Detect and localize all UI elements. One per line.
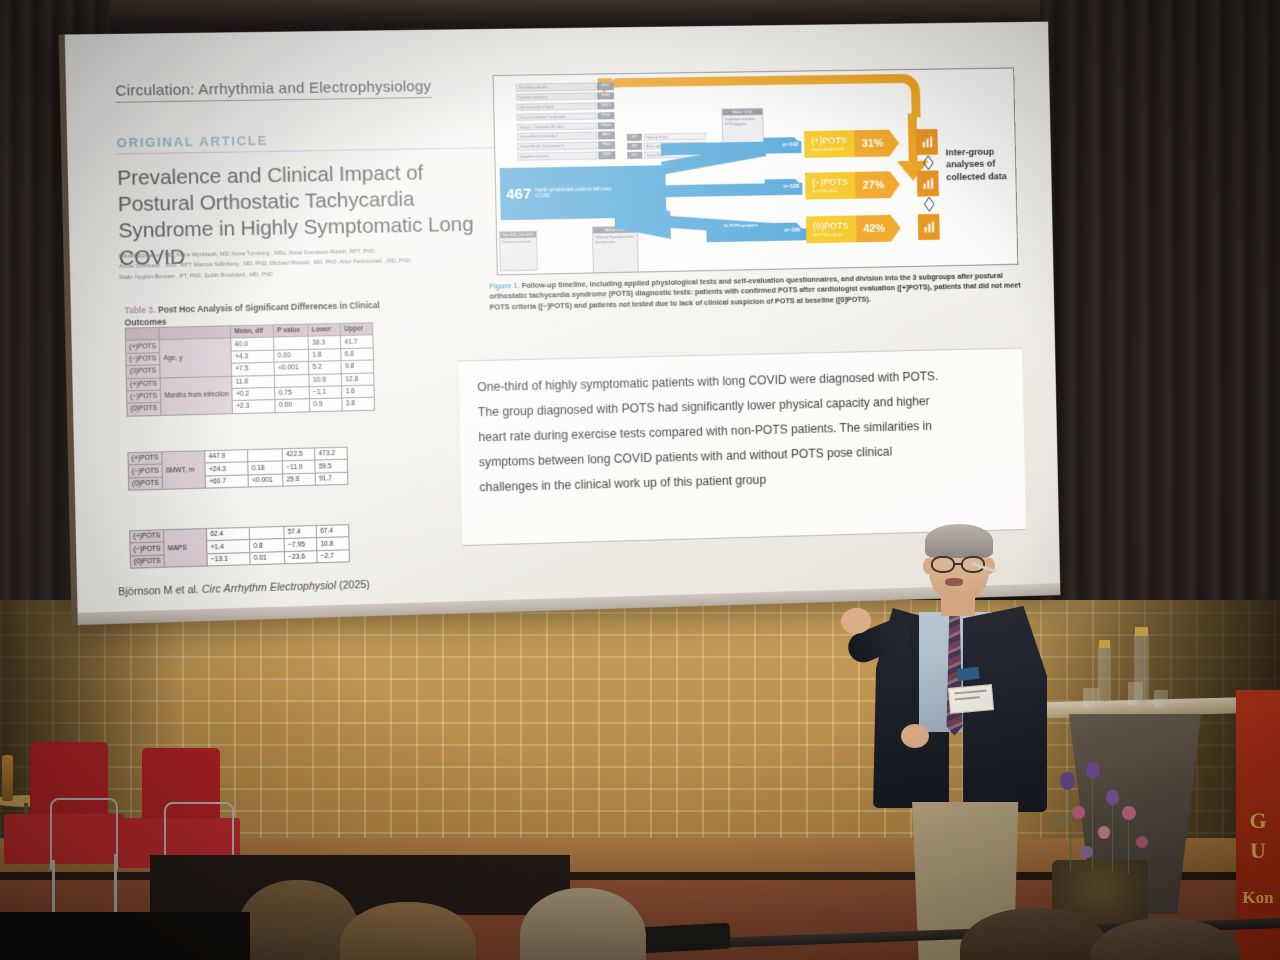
cell-group: (−)POTS [127,390,161,403]
cell-mean: +7.5 [232,362,275,375]
posthoc-table-block-1: Mean, dif P value Lower Upper (+)POTSAge… [125,322,376,416]
questionnaire-text: Symptom screening [517,152,597,161]
cell-mean: +2.3 [232,400,275,414]
test-text: Head-up tilt test [643,133,706,141]
slide-citation: Björnson M et al. Circ Arrhythm Electrop… [118,579,370,599]
questionnaire-tag: SYMP [598,151,615,159]
baseline-card: Mar 2021 - Feb 2023 Baseline assessment [499,231,538,272]
figure-caption-text: Follow-up timeline, including applied ph… [489,271,1020,311]
cell-p: 0.18 [248,461,283,474]
cell-p: 0.01 [250,551,285,564]
cell-lower: −1.1 [309,386,342,399]
questionnaire-item: Dynamic spirometrySPIRO [516,92,614,101]
cell-lower: 5.2 [309,361,342,374]
questionnaire-item: General Anxiety Disorder 7GAD-7 [517,132,615,141]
eyeglass-lens-icon [931,556,955,573]
questionnaire-text: General Anxiety Disorder 7 [517,132,597,141]
article-type-label: ORIGINAL ARTICLE [116,133,268,151]
cell-upper: 12.8 [342,373,375,386]
flower-stem [1128,812,1129,874]
cell-group: (+)POTS [126,377,160,390]
cell-upper: 41.7 [341,335,374,348]
questionnaire-text: Postural Orthostatic Tachycardia [516,112,596,121]
outcome-name: (0)POTS [813,222,849,232]
comparison-diamond-icon [923,156,932,169]
cell-lower: 29.8 [283,473,316,486]
comparison-diamond-icon [924,197,933,210]
th-lower: Lower [308,323,341,336]
cell-group: (+)POTS [128,452,162,465]
cell-mean: 62.4 [207,527,250,541]
water-bottle [1098,646,1111,702]
card-body: Baseline assessment [500,238,536,247]
outcome-pill: (0)POTS No POTS suspicion 42% [806,215,901,244]
cell-group: (0)POTS [127,403,161,416]
cell-measure: Age, y [160,338,232,377]
cell-lower: 1.8 [309,348,342,361]
outcome-n: n=128 [765,179,803,195]
outcome-percent: 27% [855,171,901,199]
questionnaire-item: Fatigue + Orthostatic HR indexFSS/OI [517,122,615,131]
presenter [845,520,1075,960]
outcome-n: n=143 [764,137,802,153]
foreground-shadow [0,912,250,960]
banner-line-1: G [1236,808,1280,834]
cell-upper: 10.8 [317,537,350,550]
cell-p: <0.001 [248,474,283,487]
cell-group: (0)POTS [130,555,164,569]
questionnaire-item: Symptom screeningSYMP [517,151,615,160]
cell-p: <0.001 [274,362,309,375]
cell-measure: Months from infection [160,376,232,415]
outcome-sub: No POTS suspicion [813,232,849,237]
flower-bloom [1080,846,1093,858]
hair [925,524,993,558]
cell-upper: 6.8 [341,348,374,361]
cell-group: (−)POTS [126,352,160,365]
figure-caption: Figure 1. Follow-up timeline, including … [489,271,1023,313]
cell-group: (−)POTS [128,464,162,477]
cell-mean: +24.3 [205,462,248,476]
citation-year: (2025) [339,579,370,592]
card-title: Mar 2021 - Feb 2023 [500,232,536,239]
questionnaire-text: Patient Health Questionnaire 9 [517,142,597,151]
outcome-pill: (−)POTS No POTS criteria 27% [805,171,900,199]
cell-upper: 59.5 [315,460,348,473]
cell-p: 0.8 [250,539,285,552]
outcome-n: n=196 [766,222,804,238]
outcome-percent: 31% [854,130,900,158]
bar-chart-icon [916,129,938,155]
cell-p [274,337,309,350]
lowered-hand [901,724,929,748]
questionnaire-list: Six minute walk test6MWT Dynamic spirome… [516,82,616,163]
cell-mean: +60.7 [205,475,248,489]
cell-group: (0)POTS [129,477,163,490]
posthoc-table-block-3: (+)POTSMAPS62.457.467.4 (−)POTS+1.40.8−7… [129,524,350,569]
outcome-row-pots-positive: n=143 (+)POTS Diagnosed with POTS 31% [764,130,900,159]
drinking-glass [1128,682,1143,706]
flower-bloom [1122,806,1136,820]
figure-1-panel: Six minute walk test6MWT Dynamic spirome… [493,67,1019,275]
test-tag: ECG [627,152,642,159]
cell-p [249,526,284,539]
th-upper: Upper [340,323,373,336]
outcome-label-block: (0)POTS No POTS suspicion [806,216,856,244]
cohort-count: 467 [506,185,531,202]
questionnaire-item: Six minute walk test6MWT [516,82,614,91]
conclusion-card: One-third of highly symptomatic patients… [459,348,1026,546]
card-body: Cardiologist evaluation POTS diagnosis [723,115,763,129]
bottle-cap [1099,640,1110,648]
cell-lower: 10.9 [309,373,342,386]
cell-p: 0.00 [274,349,309,362]
no-pots-label: No POTS symptoms [724,223,758,228]
bottle-cap [1135,627,1148,636]
cell-measure: MAPS [164,529,208,568]
th-meandif: Mean, dif [231,325,274,338]
armchair-arm [50,798,118,870]
cell-group: (+)POTS [130,530,164,543]
flower-bloom [1098,826,1110,839]
foreground-microphone-icon [639,923,730,954]
table-label: Table 3. [124,305,156,316]
cell-p [275,374,310,387]
questionnaire-tag: GAD-7 [598,132,615,140]
cell-mean: +0.2 [232,387,275,401]
inter-group-analysis-label: Inter-group analyses of collected data [946,145,1011,182]
cell-lower: 422.5 [282,448,315,461]
questionnaire-item: Patient Health Questionnaire 9PHQ-9 [517,142,615,151]
armchair-leg [52,860,55,920]
cell-lower: 38.3 [308,336,341,349]
outcome-pill: (+)POTS Diagnosed with POTS 31% [804,130,899,158]
questionnaire-item: Postural Orthostatic TachycardiaPOTS [516,112,614,121]
questionnaire-tag: PHQ-9 [598,142,615,150]
journal-name: Circulation: Arrhythmia and Electrophysi… [115,78,431,103]
cell-upper: 3.8 [342,397,375,410]
cell-lower: −23.6 [285,550,318,563]
outcome-name: (−)POTS [812,178,848,188]
author-list: Mikael Björnson , MD; Klara Wynbladh, MD… [119,245,455,283]
cell-lower: 0.9 [310,398,343,411]
questionnaire-tag: SPIRO [597,92,614,100]
armchair-leg [114,854,117,916]
mouth [945,578,963,586]
test-tag: AST [627,143,642,150]
cell-upper: 1.6 [342,385,375,398]
outcome-sub: Diagnosed with POTS [811,147,847,152]
outcome-label-block: (−)POTS No POTS criteria [805,172,855,200]
questionnaire-item: One minute Sit to Stand1MSTS [516,102,614,111]
cell-p: 0.00 [275,399,310,412]
flow-diagram: Six minute walk test6MWT Dynamic spirome… [494,68,1018,274]
questionnaire-text: Fatigue + Orthostatic HR index [517,122,597,131]
flower-bloom [1136,836,1148,848]
test-tag: HUT [627,134,642,141]
questionnaire-text: One minute Sit to Stand [516,102,596,111]
cohort-source-block: 467 highly symptomatic patients with lon… [500,166,619,220]
cell-p [248,449,283,462]
flower-bloom [1086,762,1100,779]
cell-group: (+)POTS [125,340,159,353]
pocket-square [956,667,979,681]
th-pvalue: P value [274,324,309,337]
outcome-sub: No POTS criteria [812,188,848,193]
questionnaire-tag: 1MSTS [597,102,614,110]
presentation-scene: Circulation: Arrhythmia and Electrophysi… [0,0,1280,960]
questionnaire-tag: 6MWT [597,82,614,90]
cell-upper: 473.2 [315,447,348,460]
diagnostic-test-item: HUTHead-up tilt test [627,133,707,141]
cell-measure: 6MWT, m [162,451,206,490]
eyeglass-bridge [953,563,963,565]
card-body: Follow-up Physiological tests Questionna… [593,233,637,247]
cell-group: (−)POTS [130,542,164,555]
outcome-row-pots-untested: n=196 (0)POTS No POTS suspicion 42% [765,215,901,244]
outcome-row-pots-negative: n=128 (−)POTS No POTS criteria 27% [765,171,901,200]
banner-line-2: U [1236,838,1280,864]
cell-upper: 91.7 [315,472,348,485]
curtain-right [1040,0,1280,680]
drinking-glass [1154,690,1168,708]
cell-upper: −2.7 [317,550,350,563]
flower-stem [1092,778,1093,870]
figure-caption-label: Figure 1. [489,281,520,291]
banner-line-3: Kon [1236,888,1280,908]
flower-stem [1112,800,1113,872]
cell-mean: 447.9 [205,450,248,464]
cell-lower: −7.95 [284,538,317,551]
outcome-percent: 42% [855,215,901,243]
name-badge [948,684,994,714]
cell-p: 0.75 [275,386,310,399]
followup-card: Median 13 Mo Follow-up Physiological tes… [592,226,639,275]
th-blank1 [125,327,159,340]
drinking-glass [1083,688,1099,708]
cohort-description: highly symptomatic patients with long CO… [535,186,612,200]
questionnaire-tag: POTS [597,112,614,120]
flower-bloom [1106,790,1119,805]
cell-lower: 57.4 [284,526,317,539]
citation-journal: Circ Arrhythm Electrophysiol [202,580,337,596]
cell-mean: 40.0 [231,337,274,350]
cell-mean: +4.3 [231,350,274,363]
cell-lower: −11.0 [283,460,316,473]
questionnaire-text: Six minute walk test [516,83,596,92]
cell-upper: 67.4 [316,525,349,538]
citation-authors: Björnson M et al. [118,584,199,599]
outcome-name: (+)POTS [811,137,847,147]
posthoc-table-block-2: (+)POTS6MWT, m447.9422.5473.2 (−)POTS+24… [127,447,348,491]
cell-mean: −13.1 [207,552,250,566]
cell-upper: 9.8 [341,360,374,373]
outcome-label-block: (+)POTS Diagnosed with POTS [804,130,854,158]
bar-chart-icon [917,170,939,196]
stage-riser [150,855,570,915]
cell-group: (0)POTS [126,365,160,378]
questionnaire-tag: FSS/OI [598,122,615,130]
bar-chart-icon [918,214,940,240]
cell-mean: 11.8 [232,375,275,388]
questionnaire-text: Dynamic spirometry [516,92,596,101]
